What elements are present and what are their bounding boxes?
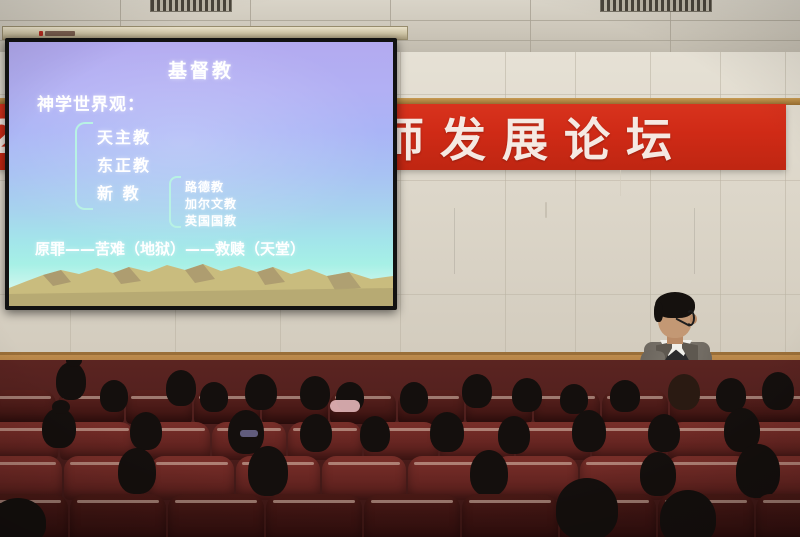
brand-dot-icon — [39, 31, 43, 36]
auditorium-seat — [364, 494, 460, 537]
audience-head — [512, 378, 542, 412]
audience-head — [668, 374, 700, 410]
outer-brace-icon — [75, 122, 93, 210]
audience-head — [660, 490, 716, 537]
audience-head — [360, 416, 390, 452]
brand-logo — [45, 31, 75, 36]
sub-branch-item-3: 英国国教 — [185, 212, 237, 229]
audience-head — [762, 372, 794, 410]
hair-tie — [240, 430, 258, 437]
banner-strap — [620, 170, 621, 196]
audience-head — [200, 382, 228, 412]
audience-head — [166, 370, 196, 406]
auditorium-seat — [70, 494, 166, 537]
audience-head — [248, 446, 288, 496]
branch-item-2: 东正教 — [97, 152, 151, 176]
branch-item-3: 新 教 — [97, 180, 141, 204]
pink-item — [330, 400, 360, 412]
audience-head — [300, 414, 332, 452]
audience-head — [560, 384, 588, 414]
audience-head — [470, 450, 508, 496]
audience-head — [498, 416, 530, 454]
audience-head — [300, 376, 330, 410]
slide-bottom-line: 原罪——苦难（地狱）——救赎（天堂） — [35, 238, 305, 259]
auditorium-seat — [462, 494, 558, 537]
branch-item-1: 天主教 — [97, 124, 151, 148]
projected-slide: 基督教 神学世界观： 天主教 东正教 新 教 路德教 加尔文教 英国国教 原罪—… — [9, 42, 393, 306]
auditorium-seat — [756, 494, 800, 537]
audience-head — [42, 408, 76, 448]
presenter-sideburn — [654, 302, 663, 322]
ceiling-light-right — [600, 0, 712, 12]
audience-area — [0, 360, 800, 537]
sub-branch-item-2: 加尔文教 — [185, 195, 237, 212]
audience-head — [430, 412, 464, 452]
audience-head — [610, 380, 640, 412]
audience-head — [100, 380, 128, 412]
audience-head — [556, 478, 618, 537]
slide-title: 基督教 — [9, 56, 393, 83]
audience-head — [572, 410, 606, 452]
audience-head — [640, 452, 676, 496]
slide-heading: 神学世界观： — [37, 90, 145, 115]
inner-brace-icon — [169, 176, 181, 228]
ceiling-light-left — [150, 0, 232, 12]
audience-head — [716, 378, 746, 412]
audience-head — [130, 412, 162, 450]
audience-head — [118, 448, 156, 494]
audience-head — [648, 414, 680, 452]
auditorium-seat — [266, 494, 362, 537]
sub-branch-item-1: 路德教 — [185, 178, 224, 195]
audience-head — [245, 374, 277, 410]
audience-head — [400, 382, 428, 414]
auditorium-seat — [168, 494, 264, 537]
screenshot-root: 2 师发展论坛 基督教 神学世界观： 天主教 东正教 新 教 路德教 加尔文教 … — [0, 0, 800, 537]
audience-head — [56, 362, 86, 400]
audience-head — [462, 374, 492, 408]
audience-hair-bun — [52, 400, 70, 414]
audience-head — [736, 444, 780, 498]
